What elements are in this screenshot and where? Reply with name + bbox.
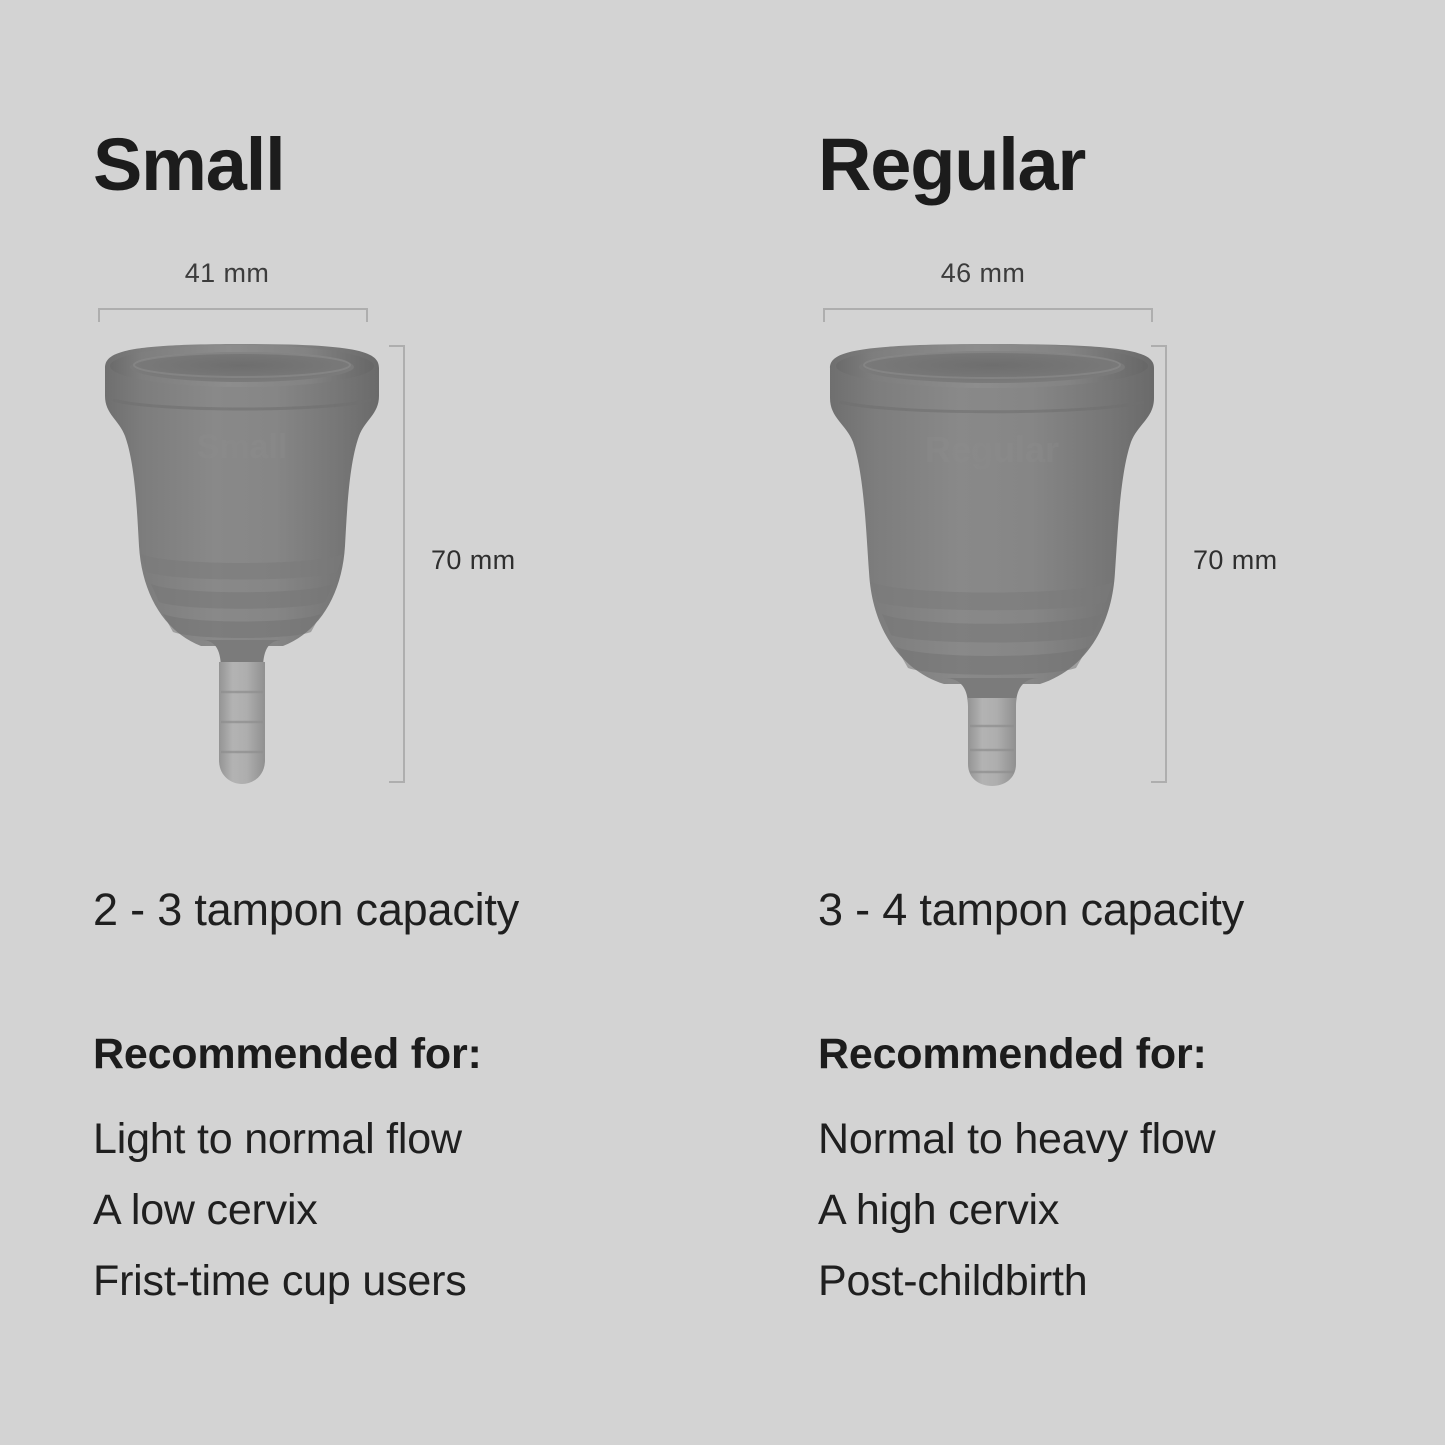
- recommended-list-regular: Normal to heavy flow A high cervix Post-…: [818, 1104, 1216, 1317]
- height-bracket-regular: [1151, 345, 1167, 783]
- product-column-regular: Regular 46 mm: [818, 0, 1438, 1445]
- size-title-small: Small: [93, 128, 284, 202]
- width-label-regular: 46 mm: [818, 258, 1148, 289]
- list-item: Normal to heavy flow: [818, 1104, 1216, 1175]
- product-size-comparison: Small 41 mm: [0, 0, 1445, 1445]
- capacity-text-small: 2 - 3 tampon capacity: [93, 884, 519, 936]
- height-label-regular: 70 mm: [1193, 545, 1278, 576]
- cup-emboss-regular: Regular: [925, 429, 1059, 470]
- menstrual-cup-regular-illustration: Regular: [822, 340, 1162, 790]
- menstrual-cup-small-illustration: Small: [97, 340, 387, 790]
- height-bracket-small: [389, 345, 405, 783]
- recommended-list-small: Light to normal flow A low cervix Frist-…: [93, 1104, 467, 1317]
- list-item: A high cervix: [818, 1175, 1216, 1246]
- size-title-regular: Regular: [818, 128, 1085, 202]
- cup-regular-svg: Regular: [822, 340, 1162, 790]
- list-item: Light to normal flow: [93, 1104, 467, 1175]
- product-column-small: Small 41 mm: [93, 0, 733, 1445]
- recommended-title-regular: Recommended for:: [818, 1030, 1207, 1079]
- cup-small-svg: Small: [97, 340, 387, 790]
- list-item: Post-childbirth: [818, 1246, 1216, 1317]
- list-item: A low cervix: [93, 1175, 467, 1246]
- width-bracket-regular: [823, 308, 1153, 322]
- capacity-text-regular: 3 - 4 tampon capacity: [818, 884, 1244, 936]
- recommended-title-small: Recommended for:: [93, 1030, 482, 1079]
- height-label-small: 70 mm: [431, 545, 516, 576]
- list-item: Frist-time cup users: [93, 1246, 467, 1317]
- width-label-small: 41 mm: [93, 258, 361, 289]
- width-bracket-small: [98, 308, 368, 322]
- cup-emboss-small: Small: [197, 428, 288, 466]
